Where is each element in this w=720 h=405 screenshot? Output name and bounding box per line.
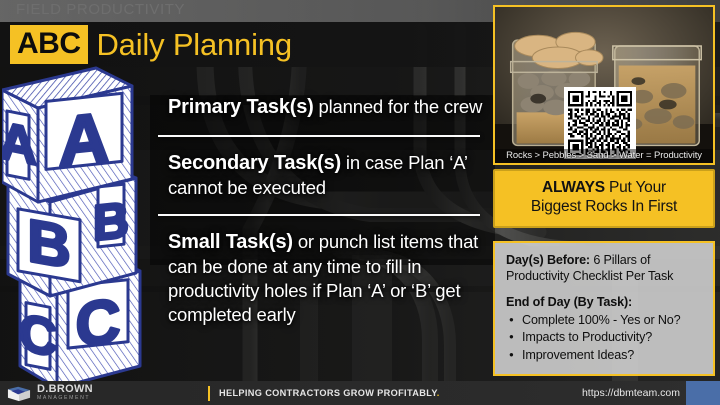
task-primary: Primary Task(s) planned for the crew (168, 95, 486, 121)
end-of-day-bullets: Complete 100% - Yes or No? Impacts to Pr… (506, 312, 703, 364)
days-before-label: Day(s) Before: (506, 253, 590, 267)
always-strong: ALWAYS (542, 179, 605, 196)
qr-code-matrix (568, 91, 632, 155)
always-line2: Biggest Rocks In First (501, 198, 707, 217)
svg-text:C: C (76, 287, 121, 361)
svg-text:A: A (2, 111, 37, 177)
svg-text:C: C (19, 303, 57, 369)
header-title-row: ABC Daily Planning (10, 25, 292, 64)
list-item: Complete 100% - Yes or No? (506, 312, 703, 329)
days-before-row: Day(s) Before: 6 Pillars of Productivity… (506, 252, 703, 285)
list-item: Impacts to Productivity? (506, 329, 703, 346)
brand-logo[interactable]: D.BROWN MANAGEMENT (0, 384, 208, 402)
book-logo-icon (6, 385, 32, 402)
svg-text:A: A (59, 97, 110, 181)
task-divider-2 (158, 214, 480, 216)
abc-blocks-artwork: C C B B (2, 66, 162, 391)
brand-name: D.BROWN (37, 384, 93, 395)
task-primary-rest: planned for the crew (314, 96, 483, 117)
abc-blocks-illustration: C C B B (2, 66, 162, 391)
task-list: Primary Task(s) planned for the crew Sec… (168, 95, 486, 326)
eyebrow-label: FIELD PRODUCTIVITY (16, 1, 185, 18)
task-small: Small Task(s) or punch list items that c… (168, 230, 486, 327)
task-divider-1 (158, 135, 480, 137)
footer-tagline-text: HELPING CONTRACTORS GROW PROFITABLY (219, 388, 437, 398)
footer-divider (208, 386, 210, 401)
end-of-day-label: End of Day (By Task): (506, 295, 632, 309)
abc-badge: ABC (10, 25, 88, 64)
svg-text:B: B (27, 206, 70, 281)
footer-corner-accent (686, 381, 720, 405)
task-small-strong: Small Task(s) (168, 231, 293, 253)
checklist-card: Day(s) Before: 6 Pillars of Productivity… (493, 241, 715, 376)
page-title: Daily Planning (97, 29, 292, 60)
end-of-day-label-row: End of Day (By Task): (506, 294, 703, 310)
always-callout: ALWAYS Put Your Biggest Rocks In First (493, 169, 715, 228)
task-secondary-strong: Secondary Task(s) (168, 152, 341, 174)
list-item: Improvement Ideas? (506, 347, 703, 364)
slide-canvas: FIELD PRODUCTIVITY ABC Daily Planning (0, 0, 720, 405)
brand-subtitle: MANAGEMENT (37, 395, 93, 402)
always-rest: Put Your (605, 179, 666, 196)
jars-photo-card: Rocks > Pebbles > Sand > Water = Product… (493, 5, 715, 165)
photo-caption: Rocks > Pebbles > Sand > Water = Product… (495, 149, 713, 163)
task-primary-strong: Primary Task(s) (168, 96, 314, 118)
task-secondary: Secondary Task(s) in case Plan ‘A’ canno… (168, 151, 486, 200)
footer-url[interactable]: https://dbmteam.com (582, 387, 680, 399)
right-column: Rocks > Pebbles > Sand > Water = Product… (493, 5, 715, 376)
footer-bar: D.BROWN MANAGEMENT HELPING CONTRACTORS G… (0, 381, 720, 405)
svg-text:B: B (93, 192, 129, 252)
footer-tagline: HELPING CONTRACTORS GROW PROFITABLY. (219, 388, 440, 398)
footer-tagline-dot: . (437, 388, 440, 398)
